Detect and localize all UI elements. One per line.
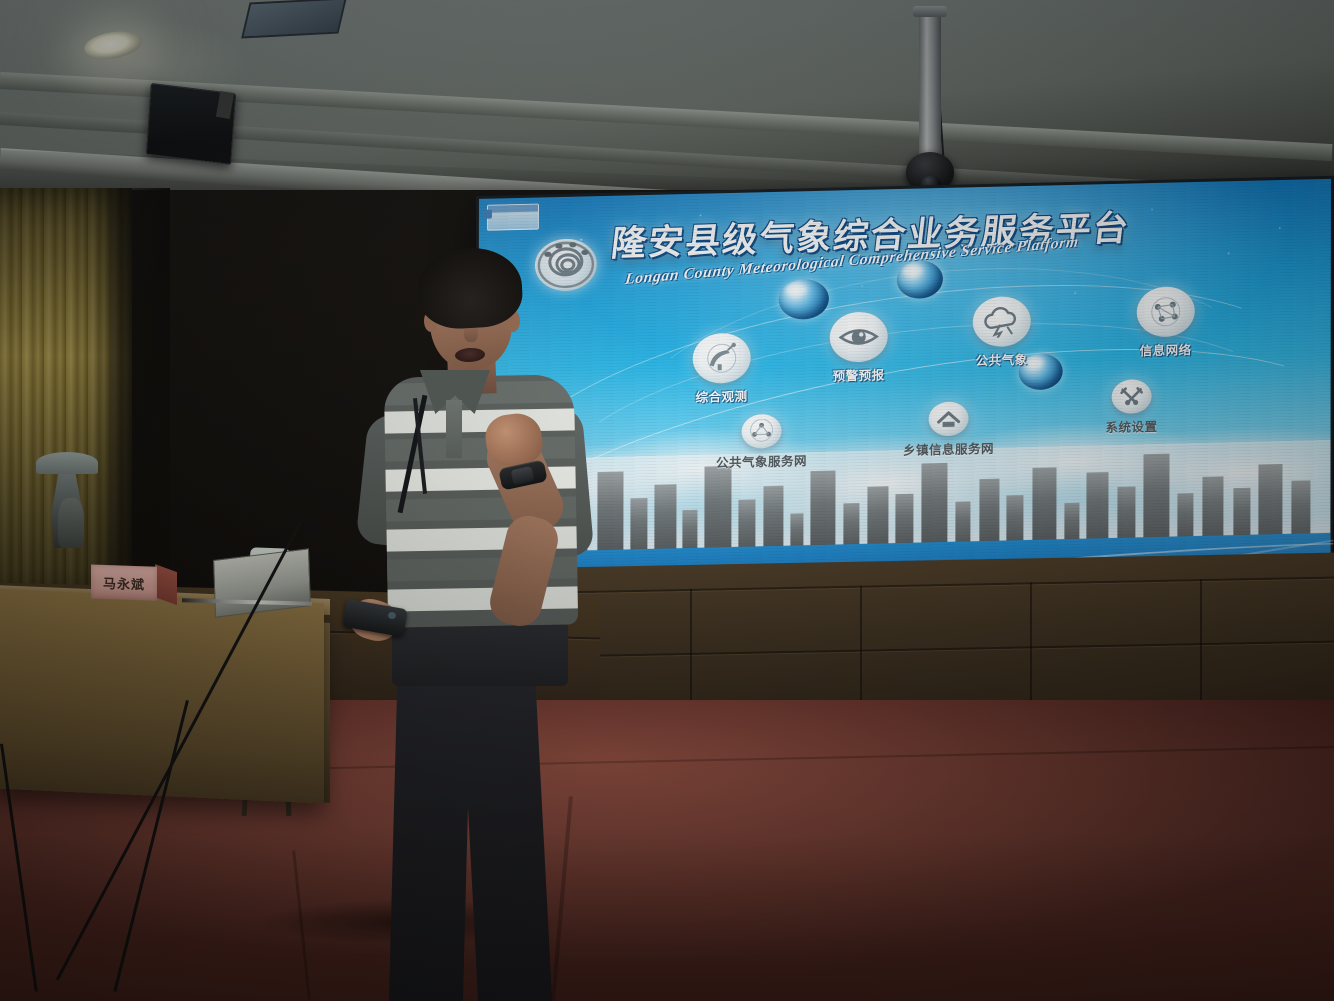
presenter-hair: [416, 245, 524, 330]
module-node[interactable]: 预警预报: [816, 311, 902, 385]
satellite-dish-icon[interactable]: [693, 333, 751, 384]
nameplate-text: 马永斌: [103, 572, 145, 592]
small-ornament: [58, 498, 84, 548]
module-label: 公共气象: [959, 349, 1045, 370]
window-icon: [483, 210, 492, 219]
eye-icon[interactable]: [830, 311, 888, 362]
curtain-edge-shadow: [110, 188, 170, 608]
laptop-on-podium[interactable]: [213, 548, 311, 618]
conference-room-photo: 隆安县级气象综合业务服务平台 Longan County Meteorologi…: [0, 0, 1334, 1001]
camera-pole-cap: [913, 6, 947, 17]
nameplate-face: 马永斌: [91, 564, 157, 600]
shirt-placket: [446, 400, 462, 458]
module-node[interactable]: 系统设置: [1077, 378, 1187, 437]
podium: [0, 589, 324, 804]
module-label: 乡镇信息服务网: [879, 437, 1019, 459]
module-label: 预警预报: [816, 364, 902, 385]
speaker-nameplate: 马永斌: [91, 564, 177, 601]
window-titlebar: [488, 205, 538, 213]
module-label: 系统设置: [1077, 415, 1187, 437]
presenter-leg: [386, 667, 471, 1001]
remote-indicator-icon: [388, 612, 396, 619]
air-vent: [241, 0, 347, 38]
presenter: [300, 248, 600, 948]
network-nodes-icon[interactable]: [1137, 286, 1195, 337]
presenter-leg: [461, 666, 557, 1001]
vase-mouth: [36, 452, 98, 474]
camera-pole: [919, 8, 941, 164]
module-label: 信息网络: [1123, 339, 1209, 360]
led-display-wall[interactable]: 隆安县级气象综合业务服务平台 Longan County Meteorologi…: [475, 176, 1334, 616]
module-node[interactable]: 公共气象: [959, 296, 1045, 370]
screen-surface[interactable]: 隆安县级气象综合业务服务平台 Longan County Meteorologi…: [478, 179, 1331, 613]
module-label: 公共气象服务网: [697, 450, 827, 472]
nameplate-side: [155, 564, 177, 605]
module-node[interactable]: 公共气象服务网: [697, 413, 827, 472]
storm-cloud-icon[interactable]: [973, 296, 1031, 347]
module-node[interactable]: 信息网络: [1123, 286, 1209, 360]
tools-wrench-icon[interactable]: [1112, 379, 1152, 414]
home-icon[interactable]: [929, 401, 969, 436]
background-browser-window[interactable]: [487, 204, 539, 231]
module-label: 综合观测: [679, 385, 765, 406]
module-node[interactable]: 乡镇信息服务网: [879, 400, 1019, 459]
network-share-icon[interactable]: [742, 414, 782, 449]
module-node[interactable]: 综合观测: [679, 332, 765, 406]
